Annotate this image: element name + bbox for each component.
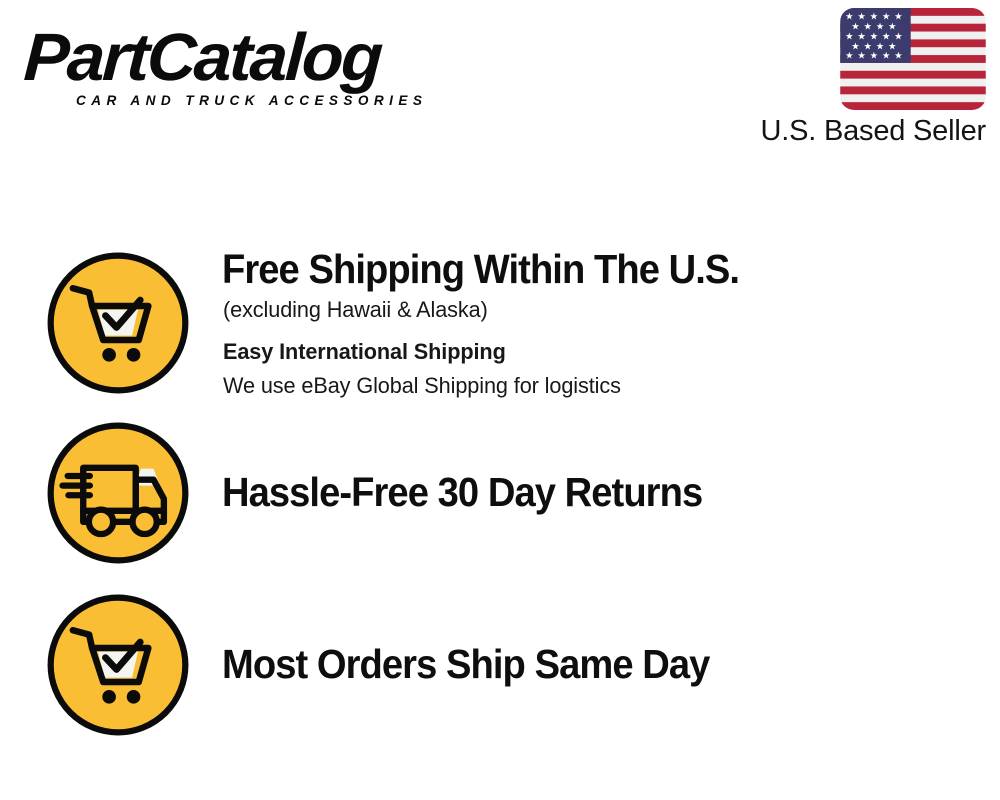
feature-subtitle-international: Easy International Shipping (223, 341, 506, 363)
feature-title: Most Orders Ship Same Day (222, 644, 709, 685)
us-based-seller-badge: U.S. Based Seller (761, 8, 987, 148)
brand-wordmark: PartCatalog (22, 26, 505, 90)
brand-logo: PartCatalog CAR AND TRUCK ACCESSORIES (24, 26, 494, 108)
feature-row-same-day-shipping: Most Orders Ship Same Day (0, 591, 1000, 741)
feature-subtitle-exclusions: (excluding Hawaii & Alaska) (223, 299, 488, 321)
shopping-cart-check-icon (44, 249, 192, 397)
brand-tagline: CAR AND TRUCK ACCESSORIES (76, 92, 481, 108)
seller-badge-label: U.S. Based Seller (761, 116, 987, 148)
shopping-cart-check-icon (44, 591, 192, 739)
feature-title: Free Shipping Within The U.S. (222, 249, 739, 290)
feature-row-returns: Hassle-Free 30 Day Returns (0, 419, 1000, 569)
us-flag-icon (840, 8, 986, 110)
delivery-truck-icon (44, 419, 192, 567)
feature-row-free-shipping: Free Shipping Within The U.S. (excluding… (0, 249, 1000, 399)
feature-title: Hassle-Free 30 Day Returns (222, 472, 702, 513)
feature-subtitle-logistics: We use eBay Global Shipping for logistic… (223, 375, 621, 397)
